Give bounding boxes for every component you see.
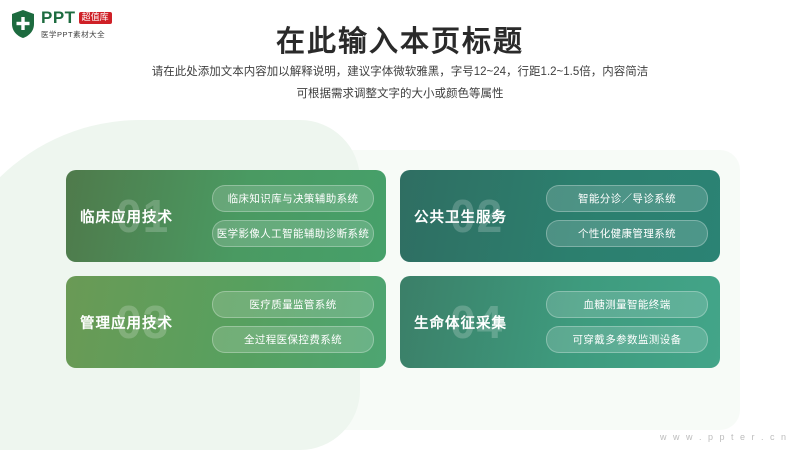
card-header-2: 02 公共卫生服务 — [414, 170, 542, 262]
footer-watermark: w w w . p p t e r . c n — [660, 432, 788, 442]
card-item[interactable]: 医疗质量监管系统 — [212, 291, 374, 318]
brand-subtitle: 医学PPT素材大全 — [41, 29, 112, 40]
card-vital-signs[interactable]: 04 生命体征采集 血糖测量智能终端 可穿戴多参数监测设备 — [400, 276, 720, 368]
page-subtitle-line-2: 可根据需求调整文字的大小或颜色等属性 — [0, 84, 800, 106]
brand-name: PPT — [41, 8, 76, 28]
card-header-3: 03 管理应用技术 — [80, 276, 208, 368]
card-clinical-application[interactable]: 01 临床应用技术 临床知识库与决策辅助系统 医学影像人工智能辅助诊断系统 — [66, 170, 386, 262]
card-header-4: 04 生命体征采集 — [414, 276, 542, 368]
brand-logo: PPT 超值库 医学PPT素材大全 — [10, 8, 112, 40]
card-item[interactable]: 可穿戴多参数监测设备 — [546, 326, 708, 353]
card-management-application[interactable]: 03 管理应用技术 医疗质量监管系统 全过程医保控费系统 — [66, 276, 386, 368]
shield-cross-icon — [10, 9, 36, 39]
card-title-2: 公共卫生服务 — [414, 206, 507, 227]
card-items-3: 医疗质量监管系统 全过程医保控费系统 — [208, 291, 374, 353]
card-public-health[interactable]: 02 公共卫生服务 智能分诊／导诊系统 个性化健康管理系统 — [400, 170, 720, 262]
page-subtitle: 请在此处添加文本内容加以解释说明，建议字体微软雅黑，字号12~24，行距1.2~… — [0, 62, 800, 106]
card-items-2: 智能分诊／导诊系统 个性化健康管理系统 — [542, 185, 708, 247]
card-title-1: 临床应用技术 — [80, 206, 173, 227]
brand-badge: 超值库 — [79, 12, 112, 24]
card-items-4: 血糖测量智能终端 可穿戴多参数监测设备 — [542, 291, 708, 353]
card-title-4: 生命体征采集 — [414, 312, 507, 333]
page-title: 在此输入本页标题 — [0, 18, 800, 60]
card-header-1: 01 临床应用技术 — [80, 170, 208, 262]
card-item[interactable]: 全过程医保控费系统 — [212, 326, 374, 353]
brand-logo-text: PPT 超值库 医学PPT素材大全 — [41, 8, 112, 40]
card-item[interactable]: 医学影像人工智能辅助诊断系统 — [212, 220, 374, 247]
card-item[interactable]: 临床知识库与决策辅助系统 — [212, 185, 374, 212]
card-grid: 01 临床应用技术 临床知识库与决策辅助系统 医学影像人工智能辅助诊断系统 02… — [66, 170, 736, 368]
page-subtitle-line-1: 请在此处添加文本内容加以解释说明，建议字体微软雅黑，字号12~24，行距1.2~… — [0, 62, 800, 84]
card-title-3: 管理应用技术 — [80, 312, 173, 333]
card-item[interactable]: 个性化健康管理系统 — [546, 220, 708, 247]
card-item[interactable]: 血糖测量智能终端 — [546, 291, 708, 318]
card-items-1: 临床知识库与决策辅助系统 医学影像人工智能辅助诊断系统 — [208, 185, 374, 247]
card-item[interactable]: 智能分诊／导诊系统 — [546, 185, 708, 212]
